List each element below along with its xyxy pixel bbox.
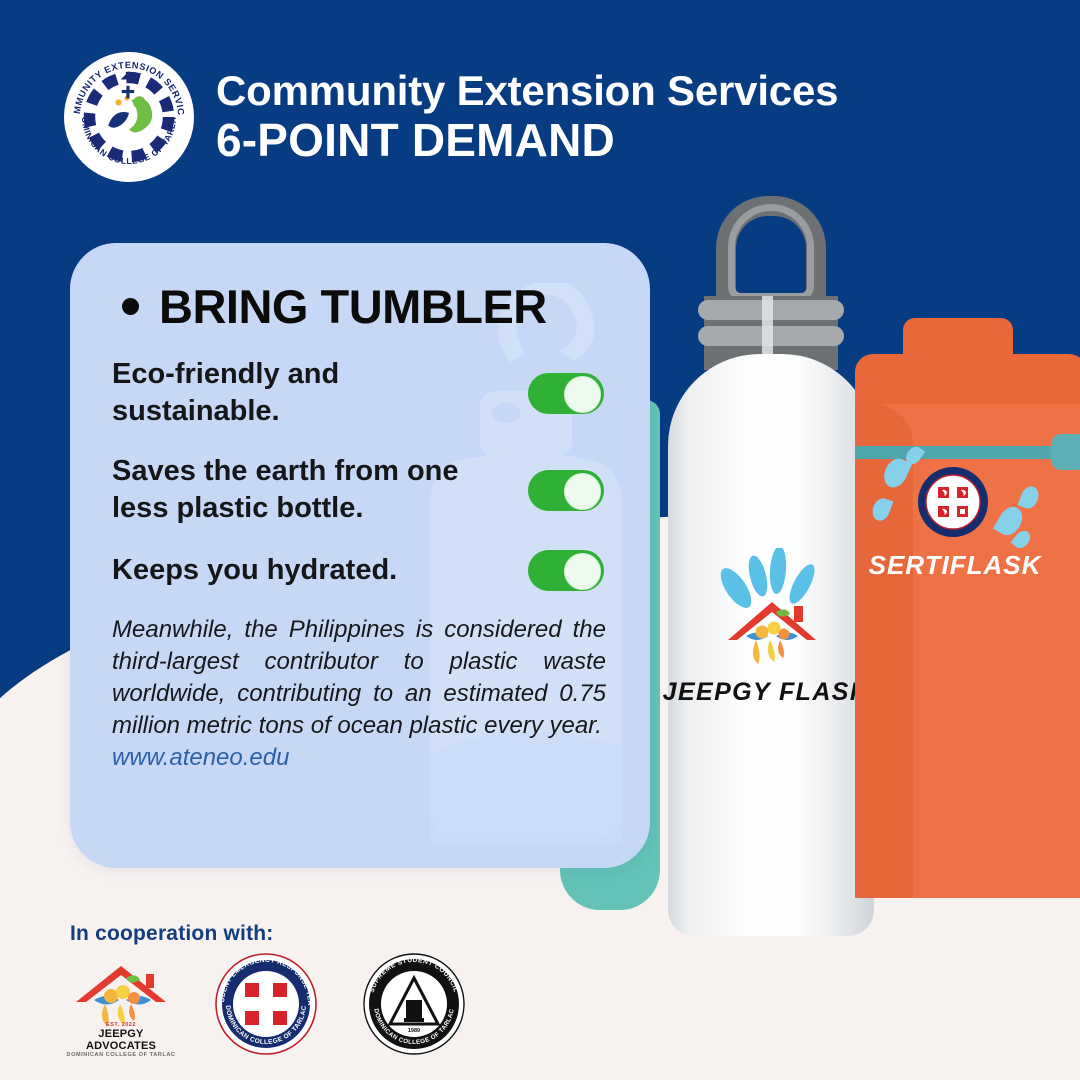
- statistic-note-text: Meanwhile, the Philippines is considered…: [112, 616, 606, 739]
- orange-flask-strap: [855, 446, 1080, 459]
- infographic-canvas: COMMUNITY EXTENSION SERVICES DOMINICAN C…: [0, 0, 1080, 1080]
- logo-jeepgy-advocates: EST. 2022 JEEPGY ADVOCATES DOMINICAN COL…: [66, 952, 176, 1060]
- source-link[interactable]: www.ateneo.edu: [112, 742, 606, 774]
- orange-flask-shoulder: [855, 354, 1080, 410]
- benefit-toggle-switch[interactable]: [528, 373, 604, 414]
- benefit-toggle-switch[interactable]: [528, 550, 604, 591]
- header: COMMUNITY EXTENSION SERVICES DOMINICAN C…: [64, 42, 964, 192]
- orange-flask-label: SERTIFLASK: [855, 550, 1055, 581]
- jeepgy-flask-logo: [706, 548, 838, 678]
- ssc-seal: SUPREME STUDENT COUNCIL DOMINICAN COLLEG…: [362, 952, 466, 1056]
- partner-logos: EST. 2022 JEEPGY ADVOCATES DOMINICAN COL…: [66, 952, 472, 1060]
- logo-sert: STUDENT EMERGENCY RESPONSE TEAM DOMINICA…: [214, 952, 324, 1060]
- logo-name: JEEPGY ADVOCATES: [66, 1028, 176, 1052]
- card-content: BRING TUMBLER Eco-friendly and sustainab…: [70, 243, 650, 774]
- flask-cap-loop-highlight: [728, 204, 814, 300]
- bring-tumbler-card: BRING TUMBLER Eco-friendly and sustainab…: [70, 243, 650, 868]
- header-line-1: Community Extension Services: [216, 69, 838, 113]
- white-flask-label: JEEPGY FLASK: [658, 678, 874, 707]
- logo-subtitle: DOMINICAN COLLEGE OF TARLAC: [66, 1052, 176, 1058]
- logo-caption: EST. 2022 JEEPGY ADVOCATES DOMINICAN COL…: [66, 1022, 176, 1058]
- card-title: BRING TUMBLER: [159, 283, 547, 330]
- toggle-knob: [564, 553, 601, 590]
- header-line-2: 6-POINT DEMAND: [216, 115, 838, 166]
- orange-flask-illustration: SERTIFLASK: [855, 318, 1080, 898]
- logo-ssc: SUPREME STUDENT COUNCIL DOMINICAN COLLEG…: [362, 952, 472, 1060]
- sert-badge-logo: [917, 466, 989, 538]
- gear-icon: [77, 65, 181, 169]
- card-title-row: BRING TUMBLER: [122, 283, 610, 330]
- benefit-text: Saves the earth from one less plastic bo…: [112, 453, 467, 527]
- ces-crest-logo: COMMUNITY EXTENSION SERVICES DOMINICAN C…: [64, 52, 194, 182]
- toggle-knob: [564, 473, 601, 510]
- benefit-row: Keeps you hydrated.: [112, 550, 610, 591]
- cooperation-label: In cooperation with:: [70, 922, 274, 946]
- bullet-point-icon: [122, 298, 139, 315]
- statistic-note: Meanwhile, the Philippines is considered…: [112, 614, 606, 774]
- orange-flask-clip: [1051, 434, 1080, 470]
- benefit-text: Eco-friendly and sustainable.: [112, 356, 467, 430]
- benefit-text: Keeps you hydrated.: [112, 552, 397, 589]
- ssc-year: 1989: [408, 1028, 420, 1034]
- header-text: Community Extension Services 6-POINT DEM…: [216, 69, 838, 166]
- benefit-toggle-switch[interactable]: [528, 470, 604, 511]
- sert-seal: STUDENT EMERGENCY RESPONSE TEAM DOMINICA…: [214, 952, 318, 1056]
- toggle-knob: [564, 376, 601, 413]
- benefit-row: Saves the earth from one less plastic bo…: [112, 453, 610, 527]
- benefit-row: Eco-friendly and sustainable.: [112, 356, 610, 430]
